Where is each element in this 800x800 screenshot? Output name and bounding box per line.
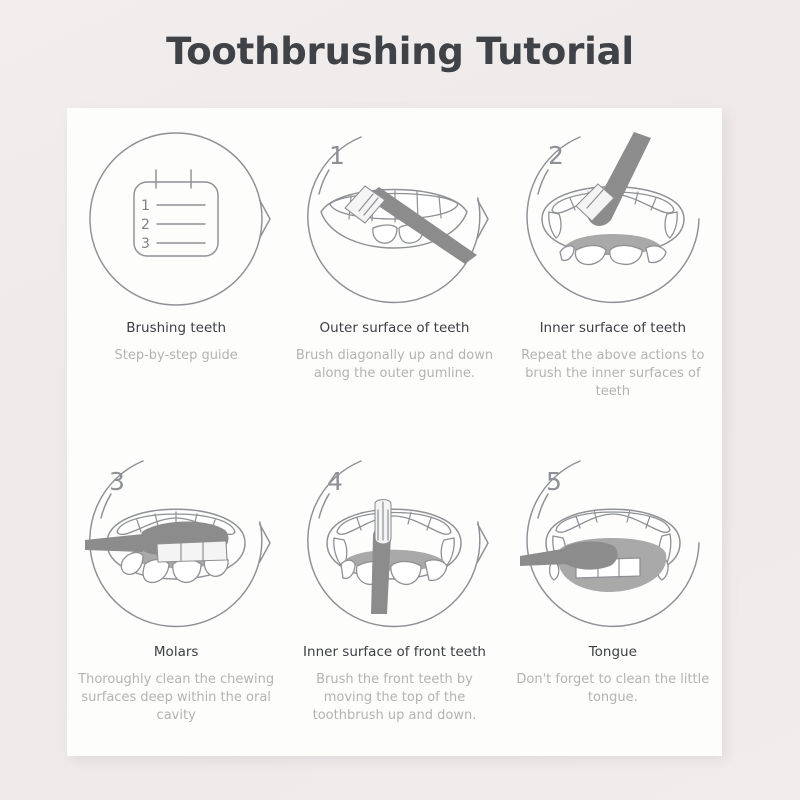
inner-surface-brushing-icon: 2 (518, 124, 708, 314)
steps-grid: 1 2 3 Brushing teeth Step-by-step guide (67, 108, 722, 756)
step-panel-tongue[interactable]: 5 (504, 432, 722, 756)
tongue-cleaning-icon: 5 (518, 448, 708, 638)
step-title: Brushing teeth (126, 320, 226, 338)
svg-text:2: 2 (141, 217, 150, 233)
step-panel-front-teeth-inner[interactable]: 4 (285, 432, 503, 756)
step-title: Tongue (589, 644, 637, 662)
front-teeth-inner-brushing-icon: 4 (299, 448, 489, 638)
step-description: Step-by-step guide (115, 347, 238, 365)
step-number-label: 2 (548, 141, 564, 170)
svg-text:3: 3 (141, 236, 150, 252)
tutorial-card: 1 2 3 Brushing teeth Step-by-step guide (67, 108, 722, 756)
step-title: Outer surface of teeth (320, 320, 470, 338)
step-title: Molars (154, 644, 199, 662)
step-number-label: 3 (109, 467, 125, 496)
molar-brushing-icon: 3 (81, 448, 271, 638)
step-description: Brush diagonally up and down along the o… (292, 347, 497, 384)
step-description: Brush the front teeth by moving the top … (292, 671, 497, 726)
step-description: Don't forget to clean the little tongue. (510, 671, 715, 708)
page-title: Toothbrushing Tutorial (0, 30, 800, 73)
step-description: Thoroughly clean the chewing surfaces de… (74, 671, 279, 726)
step-panel-outer-surface[interactable]: 1 (285, 108, 503, 432)
step-number-label: 1 (329, 141, 345, 170)
clipboard-checklist-icon: 1 2 3 (81, 124, 271, 314)
step-number-label: 4 (327, 467, 343, 496)
step-panel-inner-surface[interactable]: 2 (504, 108, 722, 432)
outer-surface-brushing-icon: 1 (299, 124, 489, 314)
step-title: Inner surface of front teeth (303, 644, 486, 662)
step-number-label: 5 (546, 467, 562, 496)
step-panel-brushing-teeth[interactable]: 1 2 3 Brushing teeth Step-by-step guide (67, 108, 285, 432)
step-description: Repeat the above actions to brush the in… (510, 347, 715, 402)
step-title: Inner surface of teeth (540, 320, 686, 338)
step-panel-molars[interactable]: 3 (67, 432, 285, 756)
svg-text:1: 1 (141, 198, 150, 214)
